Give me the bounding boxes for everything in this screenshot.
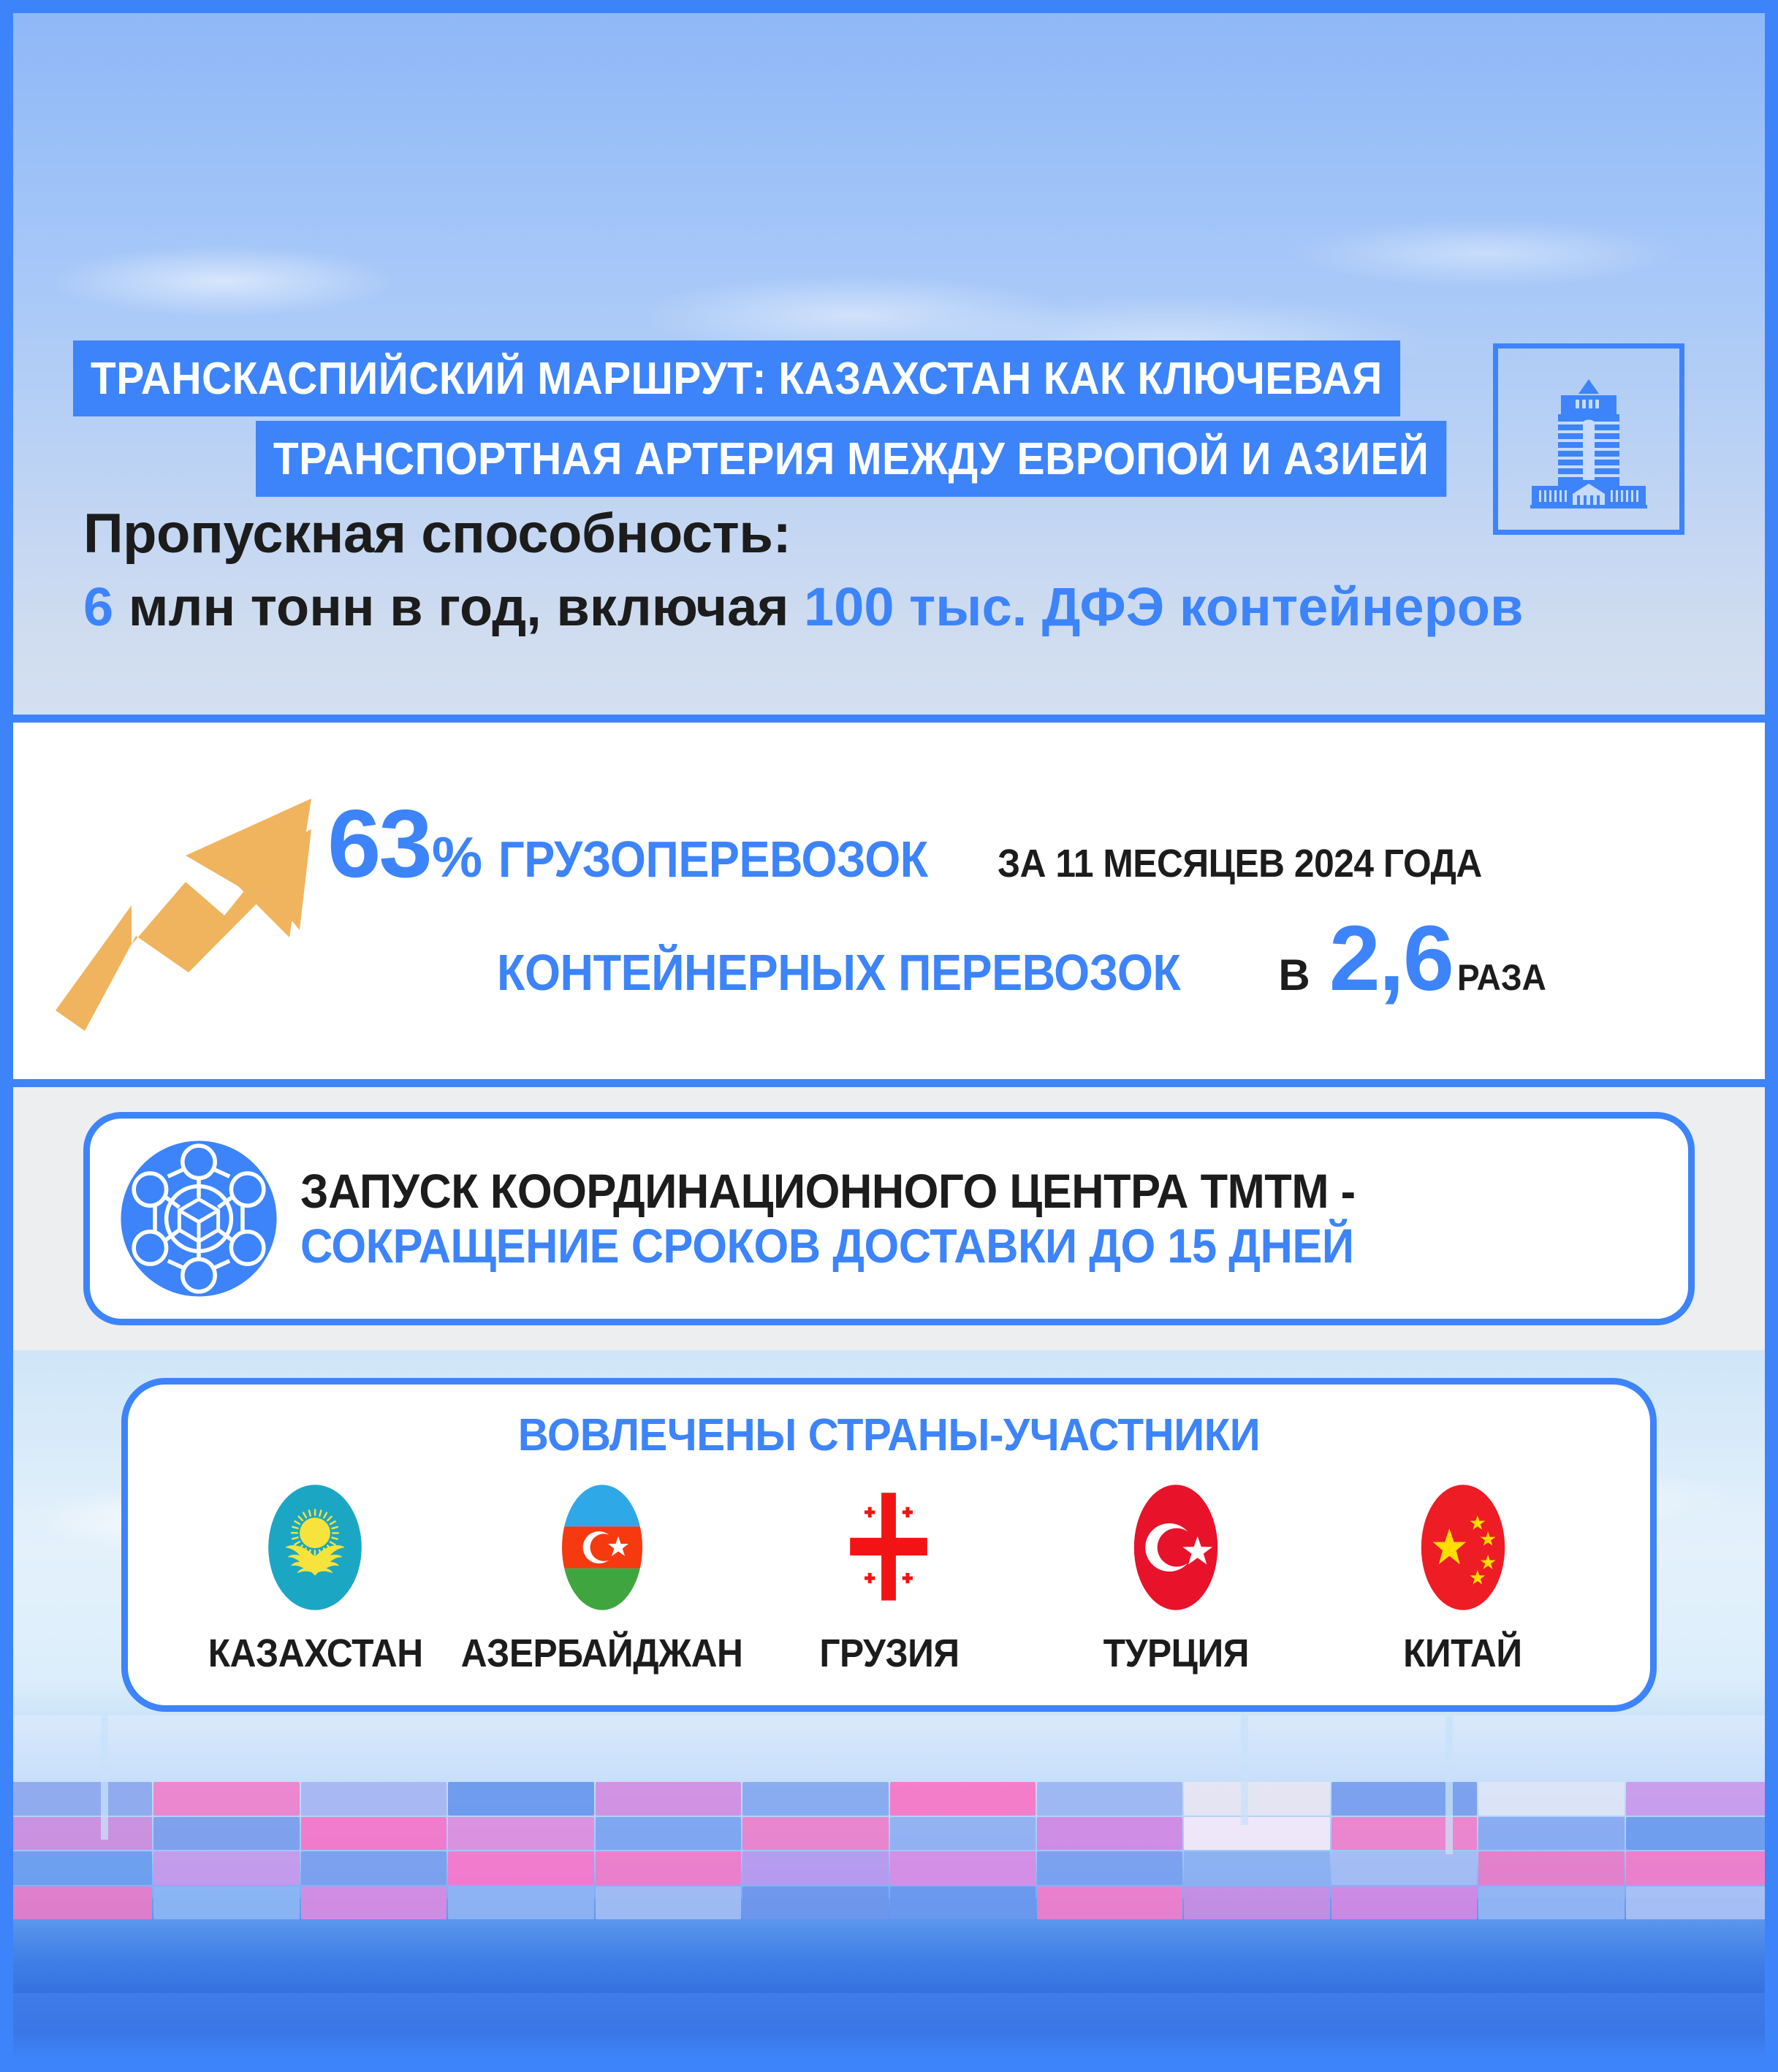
flag-georgia-icon bbox=[840, 1483, 937, 1612]
stat-container-subject: КОНТЕЙНЕРНЫХ ПЕРЕВОЗОК bbox=[497, 943, 1180, 1002]
flag-kazakhstan-icon bbox=[267, 1483, 363, 1612]
stats-panel: 63 % ГРУЗОПЕРЕВОЗОК ЗА 11 МЕСЯЦЕВ 2024 Г… bbox=[13, 715, 1765, 1087]
flag-azerbaijan-icon bbox=[554, 1483, 650, 1612]
capacity-accent: 100 тыс. ДФЭ контейнеров bbox=[804, 576, 1523, 637]
infographic-inner: ТРАНСКАСПИЙСКИЙ МАРШРУТ: КАЗАХСТАН КАК К… bbox=[13, 13, 1765, 2059]
stat-row-freight: 63 % ГРУЗОПЕРЕВОЗОК ЗА 11 МЕСЯЦЕВ 2024 Г… bbox=[327, 801, 1736, 891]
stat-container-unit: РАЗА bbox=[1457, 956, 1546, 999]
stat-freight-number: 63 bbox=[327, 801, 430, 888]
capacity-label: Пропускная способность: bbox=[83, 504, 1765, 564]
country-label-china: КИТАЙ bbox=[1403, 1631, 1522, 1676]
stat-container-number: 2,6 bbox=[1329, 917, 1453, 999]
stat-container-preposition: В bbox=[1278, 950, 1310, 1000]
country-label-turkey: ТУРЦИЯ bbox=[1103, 1631, 1248, 1676]
bottom-section: ВОВЛЕЧЕНЫ СТРАНЫ-УЧАСТНИКИ bbox=[13, 1350, 1765, 2059]
tmtm-line-2: СОКРАЩЕНИЕ СРОКОВ ДОСТАВКИ ДО 15 ДНЕЙ bbox=[300, 1221, 1568, 1271]
country-item-turkey[interactable]: ТУРЦИЯ bbox=[1055, 1483, 1296, 1676]
stat-freight-period: ЗА 11 МЕСЯЦЕВ 2024 ГОДА bbox=[998, 841, 1482, 886]
growth-arrow-icon bbox=[42, 753, 320, 1038]
container-ship-photo bbox=[13, 1715, 1765, 2059]
stat-freight-subject: ГРУЗОПЕРЕВОЗОК bbox=[498, 830, 928, 888]
page-title-line-2: ТРАНСПОРТНАЯ АРТЕРИЯ МЕЖДУ ЕВРОПОЙ И АЗИ… bbox=[256, 421, 1446, 497]
infographic-page: ТРАНСКАСПИЙСКИЙ МАРШРУТ: КАЗАХСТАН КАК К… bbox=[0, 0, 1778, 2072]
flag-turkey-icon bbox=[1128, 1483, 1224, 1612]
capacity-number: 6 bbox=[83, 576, 113, 637]
stats-lines: 63 % ГРУЗОПЕРЕВОЗОК ЗА 11 МЕСЯЦЕВ 2024 Г… bbox=[320, 801, 1765, 1002]
country-label-georgia: ГРУЗИЯ bbox=[819, 1631, 959, 1676]
country-label-azerbaijan: АЗЕРБАЙДЖАН bbox=[461, 1631, 743, 1676]
stat-freight-percent: % bbox=[432, 824, 482, 891]
capacity-value: 6 млн тонн в год, включая 100 тыс. ДФЭ к… bbox=[83, 577, 1765, 636]
countries-card: ВОВЛЕЧЕНЫ СТРАНЫ-УЧАСТНИКИ bbox=[121, 1378, 1657, 1712]
water-surface bbox=[13, 1993, 1765, 2059]
government-building-icon bbox=[1516, 366, 1662, 512]
page-title-line-1: ТРАНСКАСПИЙСКИЙ МАРШРУТ: КАЗАХСТАН КАК К… bbox=[73, 340, 1400, 416]
title-block: ТРАНСКАСПИЙСКИЙ МАРШРУТ: КАЗАХСТАН КАК К… bbox=[73, 340, 1462, 497]
tmtm-card: ЗАПУСК КООРДИНАЦИОННОГО ЦЕНТРА ТМТМ - СО… bbox=[83, 1112, 1695, 1325]
country-item-georgia[interactable]: ГРУЗИЯ bbox=[768, 1483, 1009, 1676]
container-stacks bbox=[13, 1781, 1765, 1920]
tmtm-band: ЗАПУСК КООРДИНАЦИОННОГО ЦЕНТРА ТМТМ - СО… bbox=[13, 1087, 1765, 1350]
country-item-azerbaijan[interactable]: АЗЕРБАЙДЖАН bbox=[482, 1483, 723, 1676]
capacity-section: Пропускная способность: 6 млн тонн в год… bbox=[13, 495, 1765, 715]
header-section: ТРАНСКАСПИЙСКИЙ МАРШРУТ: КАЗАХСТАН КАК К… bbox=[13, 13, 1765, 495]
tmtm-text: ЗАПУСК КООРДИНАЦИОННОГО ЦЕНТРА ТМТМ - СО… bbox=[280, 1166, 1663, 1271]
countries-title: ВОВЛЕЧЕНЫ СТРАНЫ-УЧАСТНИКИ bbox=[201, 1409, 1577, 1461]
country-item-china[interactable]: КИТАЙ bbox=[1342, 1483, 1584, 1676]
country-label-kazakhstan: КАЗАХСТАН bbox=[208, 1631, 422, 1676]
flag-china-icon bbox=[1415, 1483, 1511, 1612]
capacity-text: млн тонн в год, включая bbox=[113, 576, 804, 637]
country-item-kazakhstan[interactable]: КАЗАХСТАН bbox=[194, 1483, 436, 1676]
network-hub-icon bbox=[118, 1138, 280, 1300]
stat-row-container: КОНТЕЙНЕРНЫХ ПЕРЕВОЗОК В 2,6 РАЗА bbox=[327, 917, 1736, 1002]
tmtm-line-1: ЗАПУСК КООРДИНАЦИОННОГО ЦЕНТРА ТМТМ - bbox=[300, 1166, 1568, 1216]
countries-flags-row: КАЗАХСТАН bbox=[157, 1483, 1621, 1676]
